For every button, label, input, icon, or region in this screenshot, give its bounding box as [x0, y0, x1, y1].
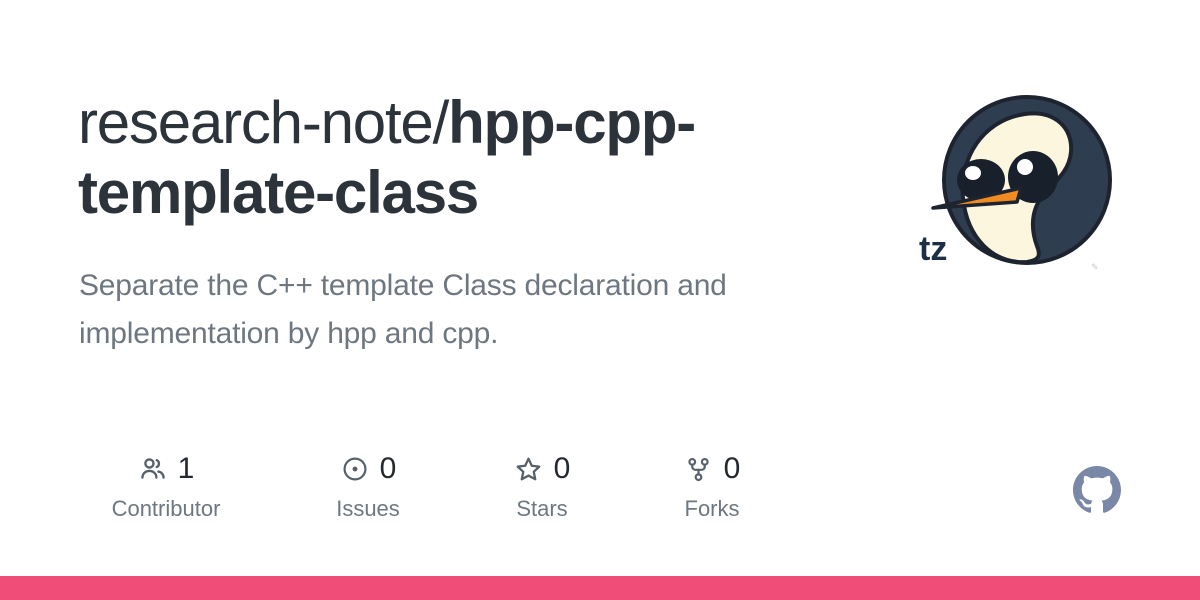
stat-forks-value: 0 — [724, 454, 741, 484]
star-icon — [514, 454, 544, 484]
stat-contributors-top: 1 — [138, 452, 195, 486]
repository-owner: research-note/ — [78, 89, 448, 156]
stat-contributors-value: 1 — [178, 454, 195, 484]
stat-stars: 0 Stars — [482, 452, 602, 522]
stat-contributors: 1 Contributor — [78, 452, 254, 522]
accent-bar — [0, 576, 1200, 600]
stat-stars-label: Stars — [516, 496, 567, 522]
github-octocat-icon — [1073, 466, 1121, 514]
repo-forked-icon — [684, 454, 714, 484]
avatar-monogram: tz — [919, 230, 947, 268]
repository-social-preview-card: research-note/hpp-cpp-template-class Sep… — [0, 0, 1200, 600]
stat-issues-label: Issues — [336, 496, 400, 522]
stat-stars-top: 0 — [514, 452, 571, 486]
avatar: tz ✎ — [905, 80, 1125, 290]
artist-signature-mark: ✎ — [1091, 262, 1099, 272]
stat-contributors-label: Contributor — [112, 496, 221, 522]
stat-issues-value: 0 — [380, 454, 397, 484]
stat-issues-top: 0 — [340, 452, 397, 486]
repository-stats: 1 Contributor 0 Issues — [78, 452, 774, 522]
issue-opened-icon — [340, 454, 370, 484]
repository-description: Separate the C++ template Class declarat… — [79, 262, 869, 358]
stat-stars-value: 0 — [554, 454, 571, 484]
page-title: research-note/hpp-cpp-template-class — [78, 88, 878, 228]
stat-issues: 0 Issues — [302, 452, 434, 522]
stat-forks-top: 0 — [684, 452, 741, 486]
stat-forks: 0 Forks — [650, 452, 774, 522]
people-icon — [138, 454, 168, 484]
stat-forks-label: Forks — [685, 496, 740, 522]
